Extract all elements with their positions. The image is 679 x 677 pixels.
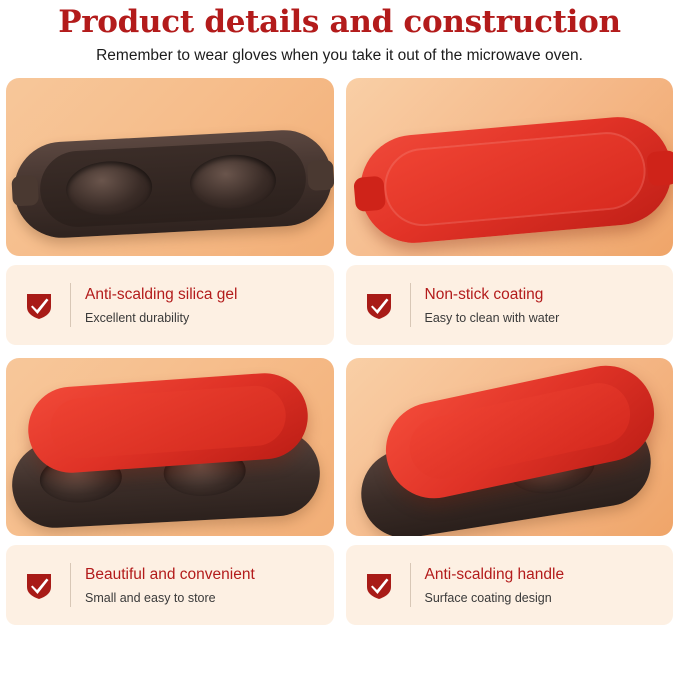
- lid-inner-surface: [48, 384, 288, 460]
- product-photo-red-lid-top-view: [346, 78, 674, 256]
- feature-grid: Anti-scalding silica gel Excellent durab…: [0, 78, 679, 625]
- check-badge-icon: [24, 570, 54, 600]
- feature-subtext: Surface coating design: [425, 590, 565, 606]
- caption-divider: [410, 563, 411, 607]
- feature-subtext: Excellent durability: [85, 310, 238, 326]
- caption-divider: [410, 283, 411, 327]
- check-badge-icon: [364, 290, 394, 320]
- check-badge-icon: [364, 570, 394, 600]
- caption-text: Anti-scalding handle Surface coating des…: [425, 565, 565, 606]
- feature-caption: Non-stick coating Easy to clean with wat…: [346, 265, 674, 345]
- caption-text: Beautiful and convenient Small and easy …: [85, 565, 255, 606]
- lid-outer-shell: [355, 113, 673, 248]
- product-illustration: [6, 78, 334, 256]
- product-photo-lid-lifted-above-tray: [6, 358, 334, 536]
- feature-caption: Anti-scalding handle Surface coating des…: [346, 545, 674, 625]
- feature-caption: Beautiful and convenient Small and easy …: [6, 545, 334, 625]
- product-details-page: Product details and construction Remembe…: [0, 4, 679, 677]
- page-title: Product details and construction: [0, 4, 679, 40]
- lid-handle-left: [353, 176, 386, 212]
- feature-caption: Anti-scalding silica gel Excellent durab…: [6, 265, 334, 345]
- caption-text: Anti-scalding silica gel Excellent durab…: [85, 285, 238, 326]
- feature-subtext: Easy to clean with water: [425, 310, 560, 326]
- tray-cavity-left: [65, 159, 154, 217]
- feature-card-anti-scalding-handle: Anti-scalding handle Surface coating des…: [346, 358, 674, 625]
- feature-heading: Anti-scalding silica gel: [85, 285, 238, 305]
- tray-outer-shell: [12, 128, 334, 241]
- feature-heading: Non-stick coating: [425, 285, 560, 305]
- tray-inner-surface: [38, 139, 308, 229]
- caption-divider: [70, 563, 71, 607]
- lid-inner-surface: [381, 129, 649, 230]
- feature-card-beautiful-and-convenient: Beautiful and convenient Small and easy …: [6, 358, 334, 625]
- page-subtitle: Remember to wear gloves when you take it…: [0, 46, 679, 66]
- lid-handle-right: [646, 150, 673, 186]
- product-illustration: [346, 358, 674, 536]
- tray-cavity-right: [189, 153, 278, 211]
- feature-heading: Anti-scalding handle: [425, 565, 565, 585]
- feature-subtext: Small and easy to store: [85, 590, 255, 606]
- feature-heading: Beautiful and convenient: [85, 565, 255, 585]
- product-photo-open-tray-top-view: [6, 78, 334, 256]
- product-photo-closed-product-tilted: [346, 358, 674, 536]
- product-illustration: [6, 358, 334, 536]
- feature-card-anti-scalding-silica-gel: Anti-scalding silica gel Excellent durab…: [6, 78, 334, 345]
- check-badge-icon: [24, 290, 54, 320]
- tray-handle-right: [307, 160, 334, 191]
- feature-card-non-stick-coating: Non-stick coating Easy to clean with wat…: [346, 78, 674, 345]
- caption-text: Non-stick coating Easy to clean with wat…: [425, 285, 560, 326]
- caption-divider: [70, 283, 71, 327]
- product-illustration: [346, 78, 674, 256]
- tray-handle-left: [11, 175, 39, 206]
